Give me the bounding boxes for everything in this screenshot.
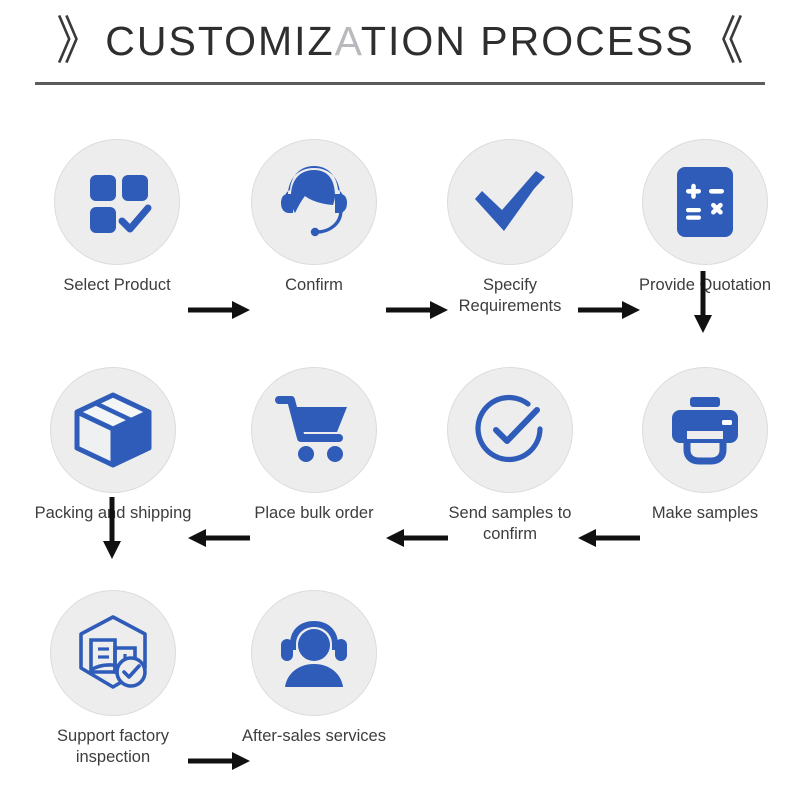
step-icon-badge [251, 139, 377, 265]
process-step-select-product[interactable]: Select Product [37, 139, 197, 296]
process-step-specify-requirements[interactable]: Specify Requirements [430, 139, 590, 317]
step-icon-badge [251, 590, 377, 716]
process-flow-diagram: Select Product Confirm [0, 85, 800, 785]
step-icon-badge [642, 367, 768, 493]
step-icon-badge [50, 367, 176, 493]
step-icon-badge [50, 590, 176, 716]
arrow-step9-to-step10 [188, 750, 250, 772]
page-title: 》 CUSTOMIZATION PROCESS 《 [0, 14, 800, 68]
step-label: Support factory inspection [33, 726, 193, 768]
arrow-step8-to-step9 [101, 497, 123, 559]
printer-machine-icon [666, 395, 744, 465]
process-step-send-samples-to-confirm[interactable]: Send samples to confirm [430, 367, 590, 545]
process-step-confirm[interactable]: Confirm [234, 139, 394, 296]
package-box-icon [73, 392, 153, 468]
support-agent-icon [275, 617, 353, 689]
page-title-part2: TION PROCESS [361, 18, 695, 64]
arrow-step4-to-step5 [692, 271, 714, 333]
page-header: 》 CUSTOMIZATION PROCESS 《 [0, 0, 800, 85]
arrow-step1-to-step2 [188, 299, 250, 321]
step-label: Place bulk order [234, 503, 394, 524]
checkmark-icon [472, 169, 548, 235]
process-step-support-factory-inspection[interactable]: Support factory inspection [33, 590, 193, 768]
page-title-accent-letter: A [335, 18, 361, 64]
step-label: Make samples [625, 503, 785, 524]
grid-check-icon [82, 167, 152, 237]
circle-check-icon [471, 391, 549, 469]
page-title-text: CUSTOMIZATION PROCESS [105, 18, 695, 65]
headset-person-icon [277, 164, 351, 240]
step-label: Select Product [37, 275, 197, 296]
step-icon-badge [251, 367, 377, 493]
calculator-icon [673, 165, 737, 239]
process-step-make-samples[interactable]: Make samples [625, 367, 785, 524]
step-label: After-sales services [234, 726, 394, 747]
step-icon-badge [447, 139, 573, 265]
arrow-step6-to-step7 [386, 527, 448, 549]
process-step-place-bulk-order[interactable]: Place bulk order [234, 367, 394, 524]
arrow-step7-to-step8 [188, 527, 250, 549]
page-title-part1: CUSTOMIZ [105, 18, 334, 64]
step-icon-badge [54, 139, 180, 265]
arrow-step3-to-step4 [578, 299, 640, 321]
step-icon-badge [447, 367, 573, 493]
shopping-cart-icon [275, 394, 353, 466]
step-icon-badge [642, 139, 768, 265]
step-label: Specify Requirements [430, 275, 590, 317]
step-label: Send samples to confirm [430, 503, 590, 545]
process-step-after-sales-services[interactable]: After-sales services [234, 590, 394, 747]
step-label: Confirm [234, 275, 394, 296]
chevron-double-left-icon: 《 [698, 15, 744, 67]
chevron-double-right-icon: 》 [56, 15, 102, 67]
factory-shield-check-icon [73, 614, 153, 692]
